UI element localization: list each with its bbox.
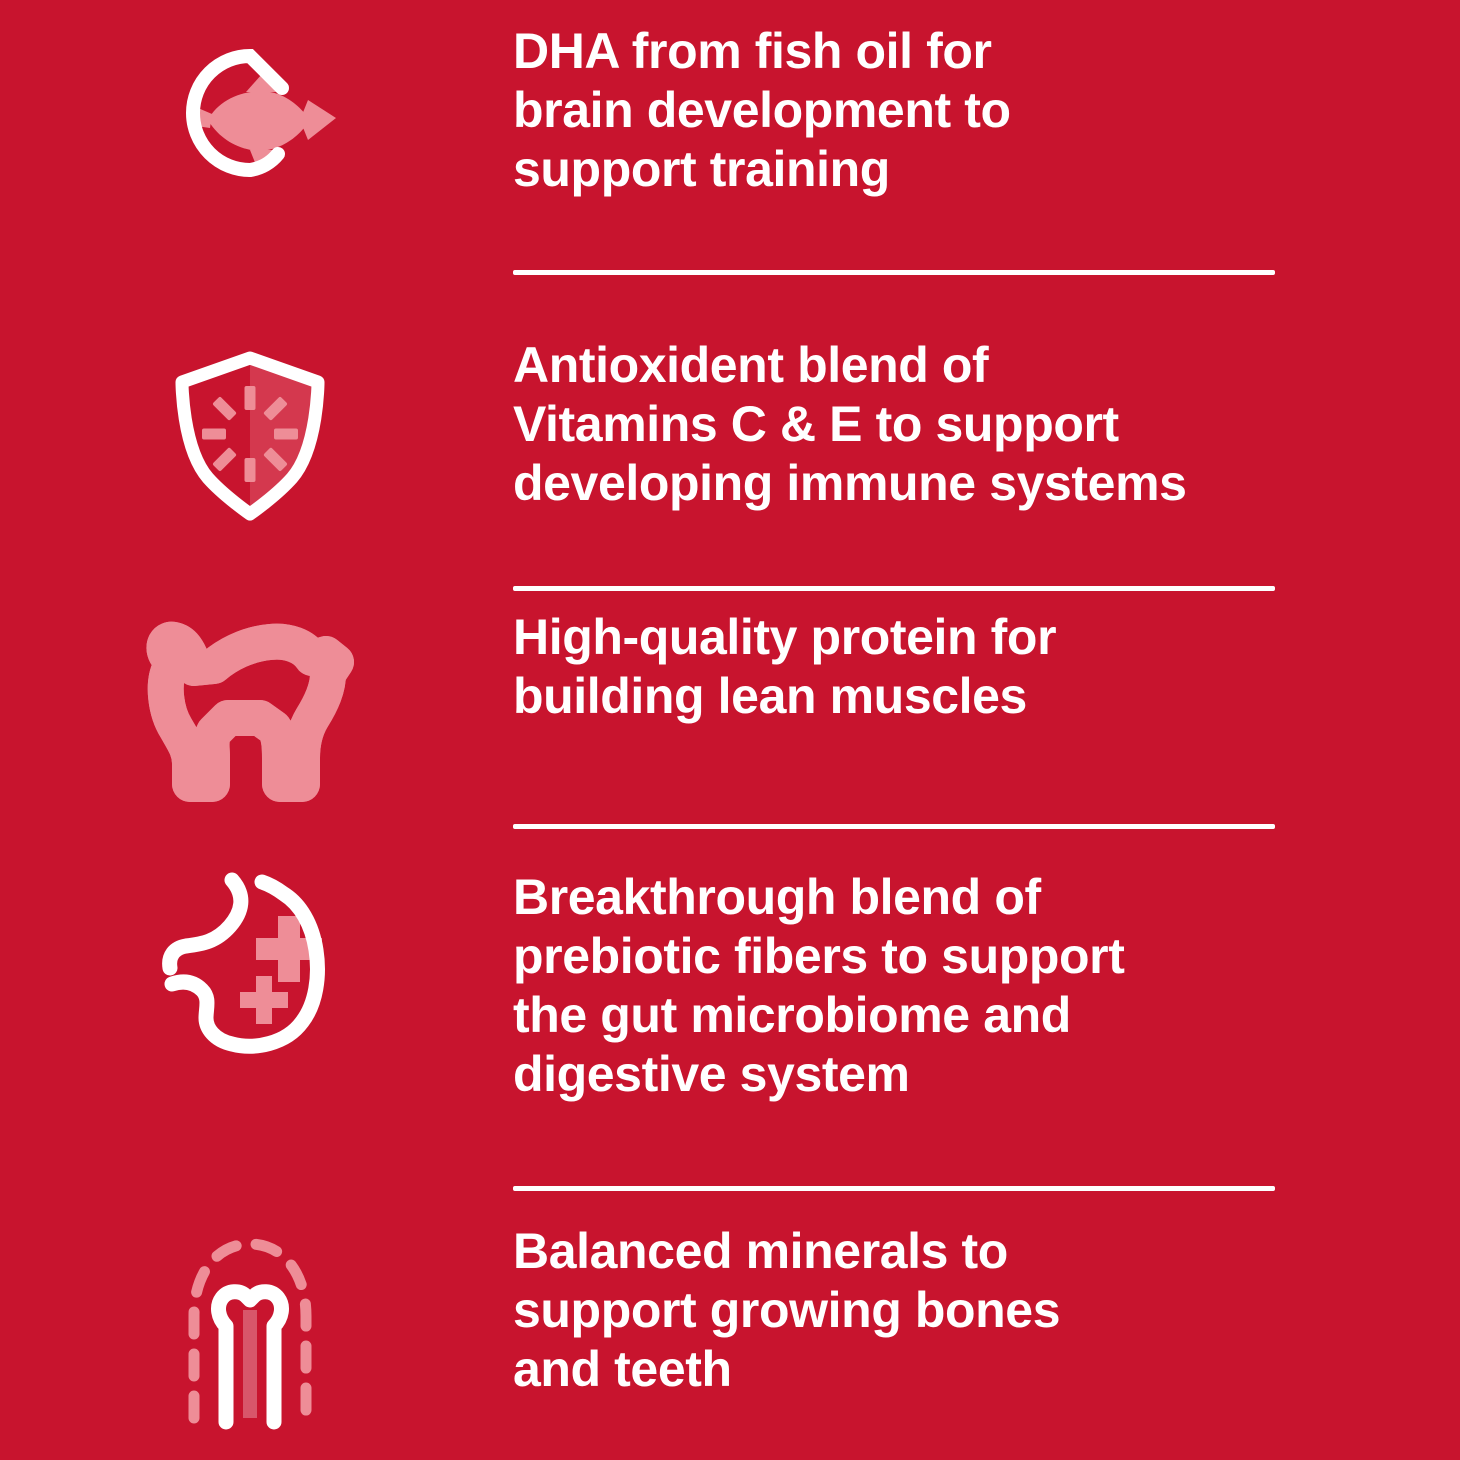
text-cell: Antioxident blend of Vitamins C & E to s… <box>500 336 1460 513</box>
text-cell: DHA from fish oil for brain development … <box>500 22 1460 199</box>
shield-sunburst-icon <box>150 336 350 536</box>
text-cell: Breakthrough blend of prebiotic fibers t… <box>500 868 1460 1104</box>
text-cell: High-quality protein for building lean m… <box>500 608 1460 726</box>
bone-dashed-icon <box>160 1222 340 1432</box>
fish-oil-droplet-icon <box>150 22 350 222</box>
icon-cell <box>0 336 500 536</box>
benefit-text: Antioxident blend of Vitamins C & E to s… <box>513 336 1460 513</box>
text-cell: Balanced minerals to support growing bon… <box>500 1222 1460 1399</box>
divider <box>513 270 1275 275</box>
icon-cell <box>0 22 500 222</box>
icon-cell <box>0 868 500 1058</box>
dog-silhouette-icon <box>140 608 360 808</box>
benefit-row: DHA from fish oil for brain development … <box>0 22 1460 222</box>
benefit-row: Balanced minerals to support growing bon… <box>0 1222 1460 1432</box>
divider <box>513 586 1275 591</box>
stomach-plus-icon <box>150 868 350 1058</box>
benefits-panel: DHA from fish oil for brain development … <box>0 0 1460 1460</box>
benefit-row: Breakthrough blend of prebiotic fibers t… <box>0 868 1460 1104</box>
icon-cell <box>0 1222 500 1432</box>
divider <box>513 1186 1275 1191</box>
benefit-text: Balanced minerals to support growing bon… <box>513 1222 1460 1399</box>
benefit-row: Antioxident blend of Vitamins C & E to s… <box>0 336 1460 536</box>
benefit-text: High-quality protein for building lean m… <box>513 608 1460 726</box>
divider <box>513 824 1275 829</box>
benefit-text: DHA from fish oil for brain development … <box>513 22 1460 199</box>
benefit-row: High-quality protein for building lean m… <box>0 608 1460 808</box>
icon-cell <box>0 608 500 808</box>
benefit-text: Breakthrough blend of prebiotic fibers t… <box>513 868 1460 1104</box>
